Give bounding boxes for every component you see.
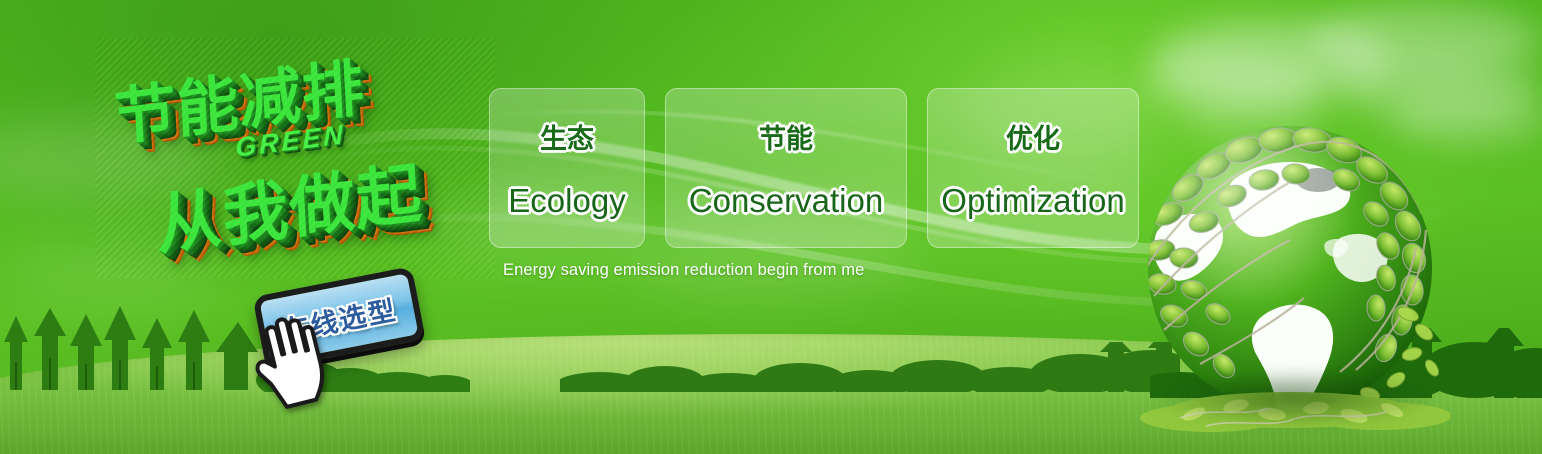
cloud-icon [1310,5,1540,75]
feature-card-title-en: Ecology [508,182,625,220]
online-selection-cta[interactable]: 在线选型 [250,275,425,370]
feature-card-title-en: Conservation [689,182,883,220]
feature-card-optimization[interactable]: 优化 Optimization [927,88,1139,248]
feature-card-ecology[interactable]: 生态 Ecology [489,88,645,248]
cloud-icon [1145,55,1325,115]
globe-shadow [1150,368,1440,428]
headline-line-2: 从我做起 [153,140,424,269]
green-earth-globe-icon [1140,118,1450,438]
feature-card-conservation[interactable]: 节能 Conservation [665,88,907,248]
feature-card-title-en: Optimization [941,182,1124,220]
feature-card-list: 生态 Ecology 节能 Conservation 优化 Optimizati… [489,88,1139,248]
feature-card-title-cn: 优化 [1006,117,1060,156]
feature-card-title-cn: 生态 [540,117,594,156]
eco-promo-banner: 节能减排 GREEN 从我做起 在线选型 生态 Ecology 节能 Conse… [0,0,1542,454]
headline-3d-logo: 节能减排 GREEN 从我做起 [95,38,495,278]
banner-subtitle: Energy saving emission reduction begin f… [503,261,864,280]
pointing-hand-cursor-icon [250,313,328,409]
feature-card-title-cn: 节能 [759,117,813,156]
cloud-icon [1340,58,1540,120]
cloud-icon [1150,20,1390,100]
